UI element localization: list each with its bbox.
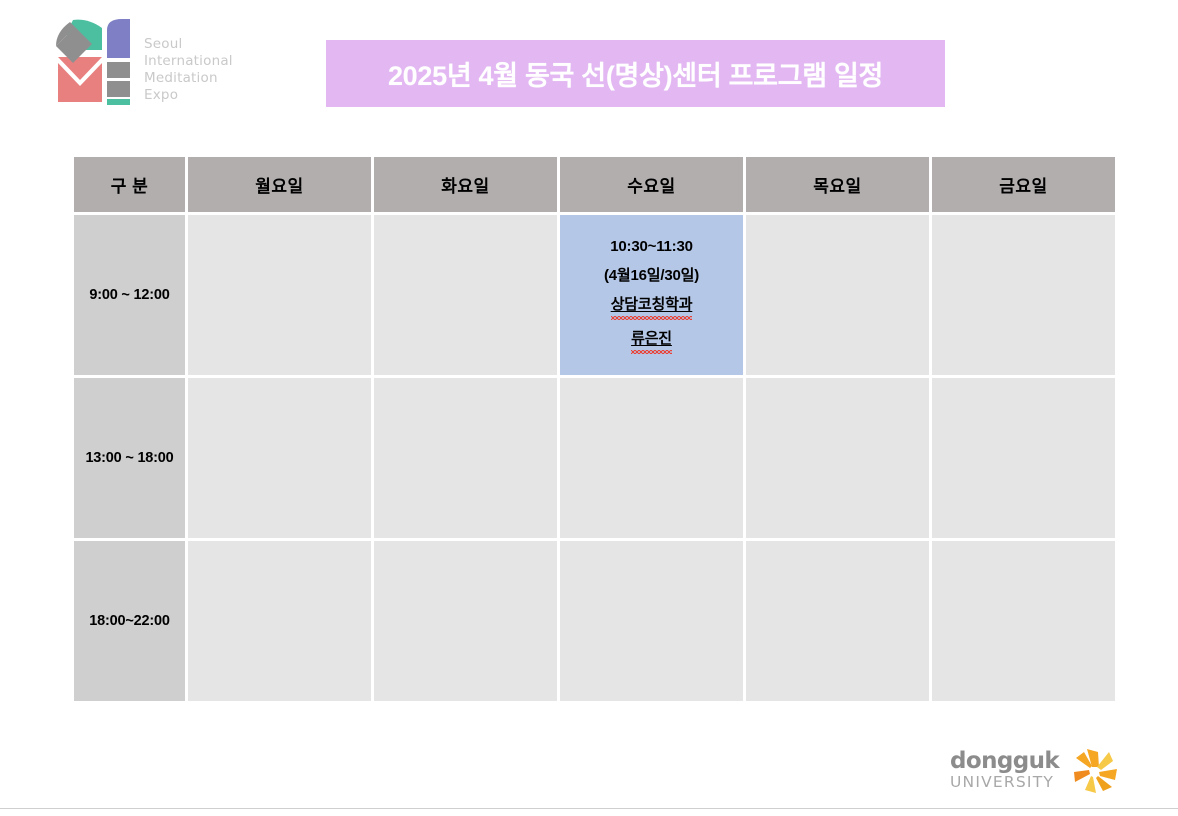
expo-logo-text: Seoul International Meditation Expo [144, 36, 233, 104]
column-header-thursday: 목요일 [746, 157, 929, 212]
event-instructor: 류은진 [631, 324, 672, 353]
column-header-monday: 월요일 [188, 157, 371, 212]
event-instructor-wrap: 류은진 [560, 324, 743, 358]
seoul-meditation-expo-logo-icon [44, 14, 136, 108]
cell-tuesday-morning[interactable] [374, 215, 557, 375]
cell-tuesday-evening[interactable] [374, 541, 557, 701]
title-banner: 2025년 4월 동국 선(명상)센터 프로그램 일정 [326, 40, 945, 107]
expo-logo: Seoul International Meditation Expo [44, 14, 244, 110]
row-label-evening: 18:00~22:00 [74, 541, 185, 701]
schedule-table: 구 분 월요일 화요일 수요일 목요일 금요일 9:00 ~ 12:00 10:… [71, 154, 1118, 704]
cell-thursday-evening[interactable] [746, 541, 929, 701]
column-header-wednesday: 수요일 [560, 157, 743, 212]
cell-friday-afternoon[interactable] [932, 378, 1115, 538]
event-entry: 10:30~11:30 (4월16일/30일) 상담코칭학과 류은진 [560, 232, 743, 358]
table-header-row: 구 분 월요일 화요일 수요일 목요일 금요일 [74, 157, 1115, 212]
cell-tuesday-afternoon[interactable] [374, 378, 557, 538]
row-label-morning: 9:00 ~ 12:00 [74, 215, 185, 375]
footer-divider [0, 808, 1178, 809]
event-department: 상담코칭학과 [611, 290, 693, 319]
cell-monday-afternoon[interactable] [188, 378, 371, 538]
dongguk-subtitle: UNIVERSITY [950, 773, 1068, 791]
table-row: 13:00 ~ 18:00 [74, 378, 1115, 538]
page-title: 2025년 4월 동국 선(명상)센터 프로그램 일정 [388, 54, 883, 93]
event-department-wrap: 상담코칭학과 [560, 290, 743, 324]
cell-friday-morning[interactable] [932, 215, 1115, 375]
column-header-friday: 금요일 [932, 157, 1115, 212]
dongguk-flower-icon [1068, 745, 1122, 797]
cell-friday-evening[interactable] [932, 541, 1115, 701]
table-header: 구 분 월요일 화요일 수요일 목요일 금요일 [74, 157, 1115, 212]
column-header-division: 구 분 [74, 157, 185, 212]
event-time: 10:30~11:30 [560, 232, 743, 261]
cell-wednesday-morning[interactable]: 10:30~11:30 (4월16일/30일) 상담코칭학과 류은진 [560, 215, 743, 375]
cell-thursday-afternoon[interactable] [746, 378, 929, 538]
table-row: 9:00 ~ 12:00 10:30~11:30 (4월16일/30일) 상담코… [74, 215, 1115, 375]
cell-wednesday-evening[interactable] [560, 541, 743, 701]
slide-header: Seoul International Meditation Expo 2025… [0, 0, 1178, 130]
dongguk-wordmark: dongguk UNIVERSITY [950, 749, 1068, 791]
cell-thursday-morning[interactable] [746, 215, 929, 375]
row-label-afternoon: 13:00 ~ 18:00 [74, 378, 185, 538]
dongguk-university-logo: dongguk UNIVERSITY [950, 745, 1122, 801]
table-body: 9:00 ~ 12:00 10:30~11:30 (4월16일/30일) 상담코… [74, 215, 1115, 701]
event-dates: (4월16일/30일) [560, 261, 743, 290]
cell-monday-evening[interactable] [188, 541, 371, 701]
cell-monday-morning[interactable] [188, 215, 371, 375]
column-header-tuesday: 화요일 [374, 157, 557, 212]
table-row: 18:00~22:00 [74, 541, 1115, 701]
dongguk-name: dongguk [950, 749, 1068, 773]
cell-wednesday-afternoon[interactable] [560, 378, 743, 538]
